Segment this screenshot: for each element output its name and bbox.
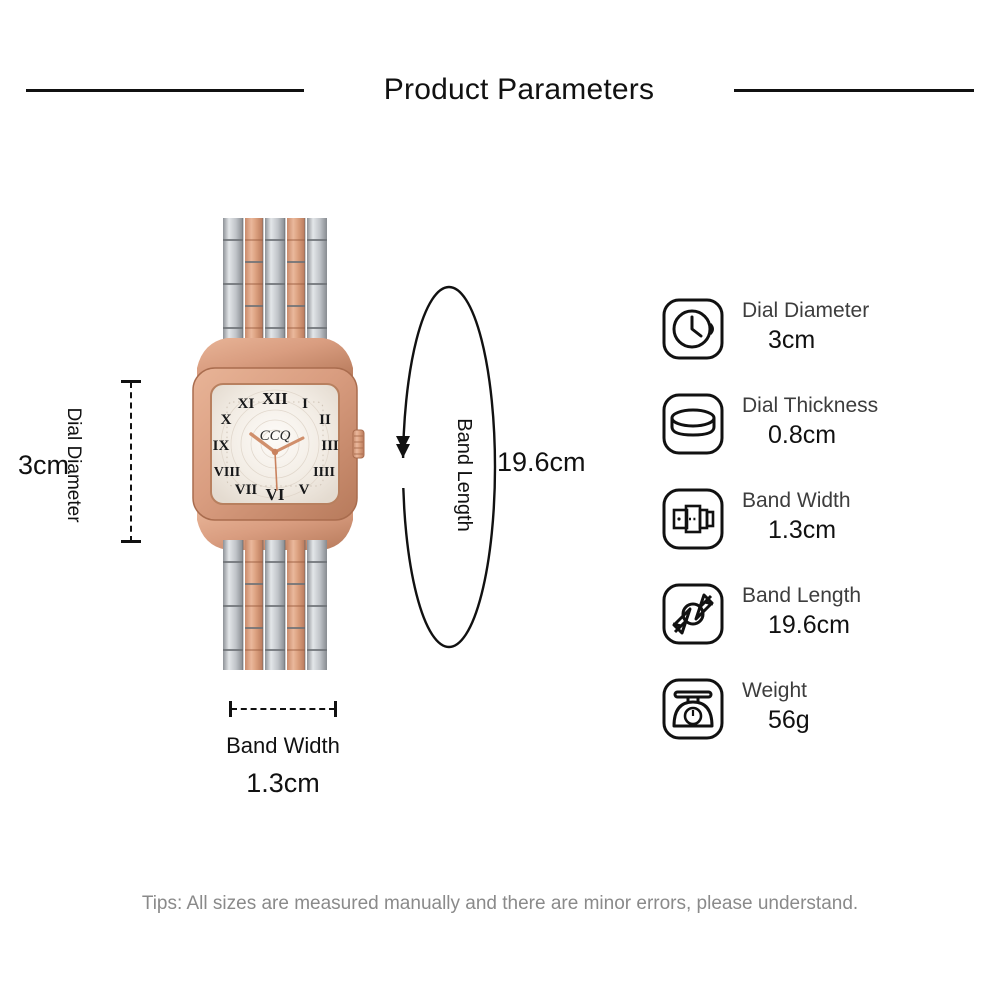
dial-diameter-value: 3cm — [18, 450, 69, 481]
band-length-loop-arrow — [394, 282, 504, 652]
spec-text: Band Width 1.3cm — [742, 486, 990, 547]
bracelet-lower — [223, 540, 327, 670]
watch-dial-icon — [660, 296, 726, 362]
header-rule-left — [26, 89, 304, 92]
spec-value: 1.3cm — [742, 514, 990, 547]
bracelet-upper — [223, 218, 327, 348]
kitchen-scale-icon — [660, 676, 726, 742]
spec-label: Dial Thickness — [742, 393, 990, 419]
numeral-x: X — [221, 412, 232, 428]
watch-crown — [353, 430, 364, 458]
spec-row-dial-diameter: Dial Diameter 3cm — [660, 296, 990, 391]
spec-label: Band Length — [742, 583, 990, 609]
band-length-value: 19.6cm — [497, 447, 586, 478]
watch-strap-diagonal-icon — [660, 581, 726, 647]
band-width-value: 1.3cm — [183, 768, 383, 799]
numeral-xii: XII — [262, 389, 288, 408]
spec-label: Weight — [742, 678, 990, 704]
tips-note: Tips: All sizes are measured manually an… — [0, 893, 1000, 915]
watch-case: XII I II III IIII V VI VII VIII IX X XI … — [193, 338, 364, 550]
spec-text: Weight 56g — [742, 676, 990, 737]
measure-cap-bottom — [121, 540, 141, 543]
header-rule-right — [734, 89, 974, 92]
spec-row-weight: Weight 56g — [660, 676, 990, 771]
numeral-vi: VI — [266, 485, 285, 504]
spec-value: 3cm — [742, 324, 990, 357]
spec-text: Dial Diameter 3cm — [742, 296, 990, 357]
numeral-ii: II — [319, 412, 331, 428]
spec-row-band-width: Band Width 1.3cm — [660, 486, 990, 581]
measure-cap-right — [334, 701, 337, 717]
dial-logo: CCQ — [260, 428, 291, 444]
measure-dashed-line-horizontal — [231, 708, 335, 710]
spec-text: Band Length 19.6cm — [742, 581, 990, 642]
spec-label: Dial Diameter — [742, 298, 990, 324]
numeral-v: V — [299, 482, 310, 498]
spec-row-band-length: Band Length 19.6cm — [660, 581, 990, 676]
measure-dashed-line — [130, 382, 132, 542]
watch-product-image: XII I II III IIII V VI VII VIII IX X XI … — [185, 218, 365, 670]
spec-value: 19.6cm — [742, 609, 990, 642]
numeral-ix: IX — [213, 438, 230, 454]
disc-thickness-icon — [660, 391, 726, 457]
spec-value: 56g — [742, 704, 990, 737]
band-width-label: Band Width — [183, 733, 383, 759]
numeral-i: I — [302, 396, 308, 412]
strap-buckle-icon — [660, 486, 726, 552]
spec-row-dial-thickness: Dial Thickness 0.8cm — [660, 391, 990, 486]
spec-list: Dial Diameter 3cm Dial Thickness 0.8cm — [660, 296, 990, 771]
numeral-iii: III — [321, 438, 339, 454]
page-title: Product Parameters — [384, 73, 654, 107]
dial-diameter-measure-line — [118, 378, 144, 546]
band-width-measure-line — [228, 700, 338, 718]
numeral-xi: XI — [238, 396, 255, 412]
page-header: Product Parameters — [0, 62, 1000, 118]
spec-text: Dial Thickness 0.8cm — [742, 391, 990, 452]
numeral-viii: VIII — [214, 465, 240, 480]
numeral-vii: VII — [235, 482, 258, 498]
numeral-iiii: IIII — [313, 465, 335, 480]
spec-value: 0.8cm — [742, 419, 990, 452]
spec-label: Band Width — [742, 488, 990, 514]
band-length-label: Band Length — [452, 400, 475, 550]
